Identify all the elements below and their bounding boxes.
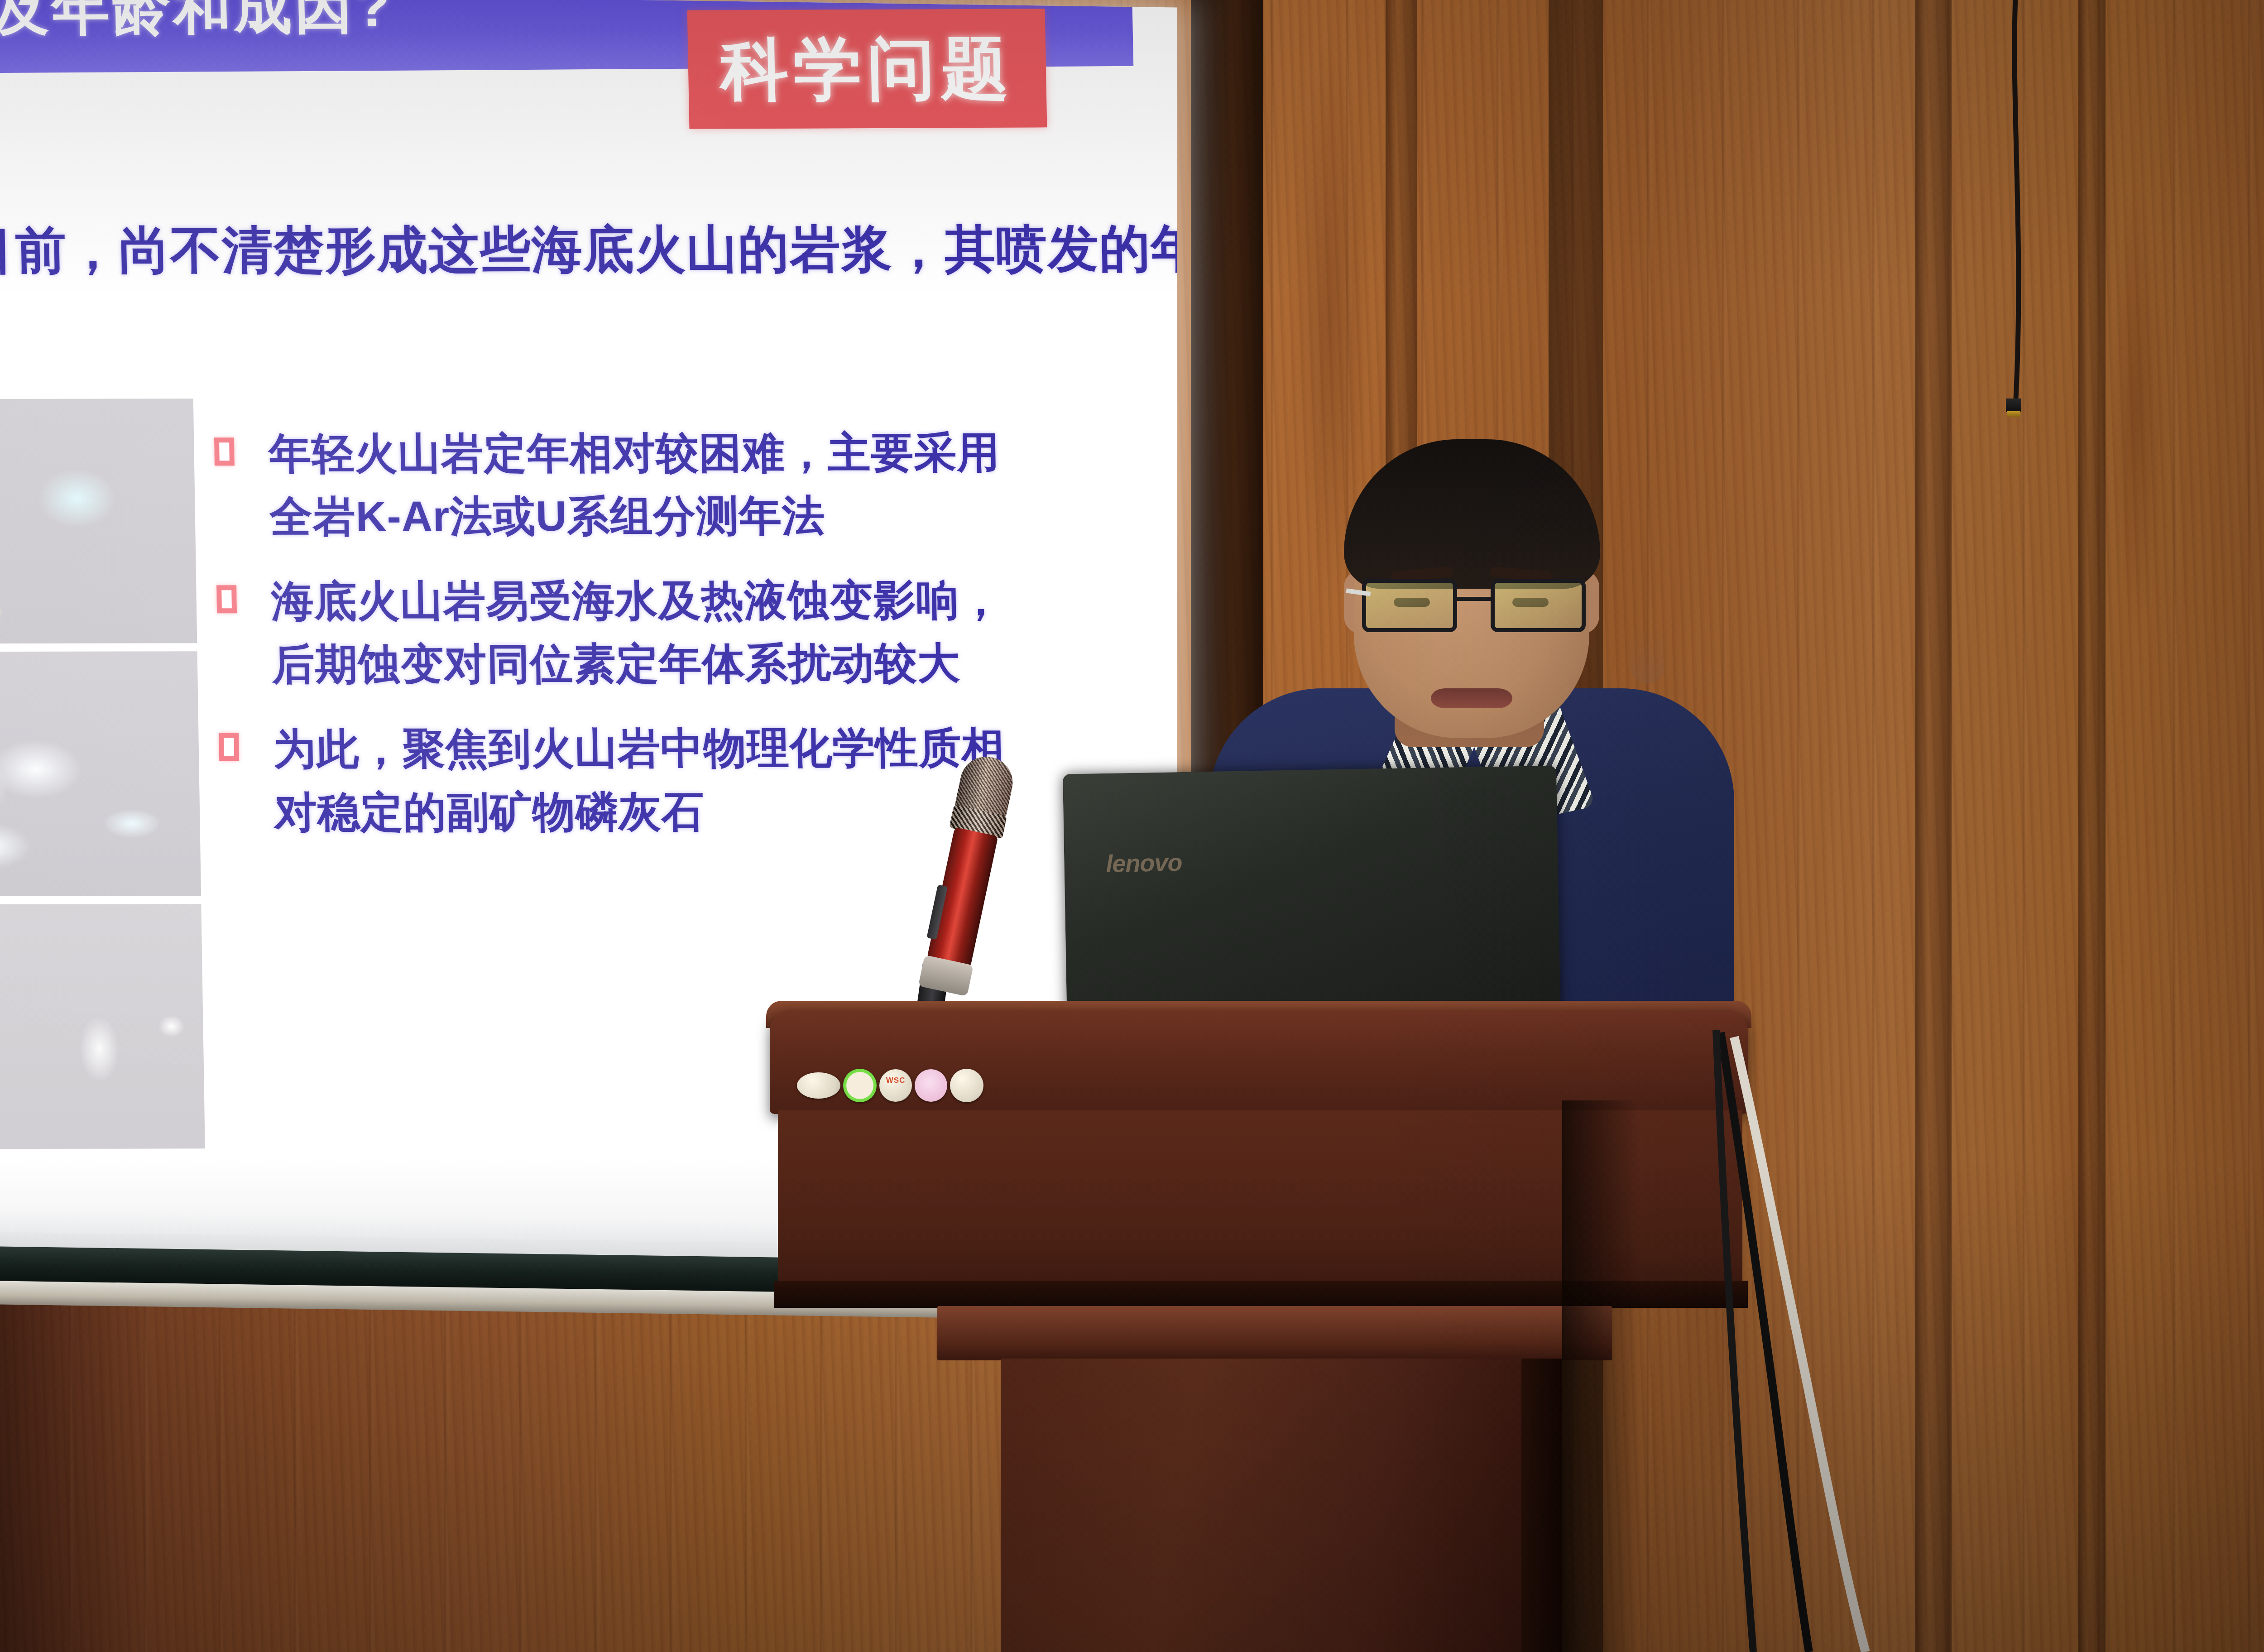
podium-badge-row: WSC: [797, 1069, 983, 1102]
bullet-line-1: 为此，聚焦到火山岩中物理化学性质相: [273, 724, 1005, 773]
laptop[interactable]: lenovo: [1063, 766, 1561, 1037]
thin-section-photo-3: [0, 904, 205, 1149]
bullet-square-icon: [219, 733, 239, 761]
bullet-text: 海底火山岩易受海水及热液蚀变影响， 后期蚀变对同位素定年体系扰动较大: [271, 568, 1004, 696]
speaker-mouth: [1431, 688, 1512, 708]
eyeglasses: [1358, 579, 1589, 638]
slide-lead-paragraph: 目前，尚不清楚形成这些海底火山的岩浆，其喷发的年: [0, 215, 1096, 285]
podium-badge: [915, 1069, 947, 1102]
bullet-line-2: 对稳定的副矿物磷灰石: [274, 779, 1006, 844]
laptop-brand-logo: lenovo: [1106, 848, 1182, 878]
bullet-line-2: 后期蚀变对同位素定年体系扰动较大: [272, 632, 1004, 696]
slide-bullet-item: 海底火山岩易受海水及热液蚀变影响， 后期蚀变对同位素定年体系扰动较大: [216, 568, 1101, 696]
presentation-room-photo: 及年龄和成因? 科学问题 目前，尚不清楚形成这些海底火山的岩浆，其喷发的年 年轻…: [0, 0, 2264, 1652]
bullet-text: 年轻火山岩定年相对较困难，主要采用 全岩K-Ar法或U系组分测年法: [268, 421, 1001, 548]
cable-connector: [2006, 399, 2021, 412]
podium-badge-label: WSC: [879, 1069, 912, 1084]
bullet-text: 为此，聚焦到火山岩中物理化学性质相 对稳定的副矿物磷灰石: [273, 716, 1006, 844]
eyeglass-lens-left: [1362, 579, 1457, 632]
bullet-square-icon: [216, 585, 237, 613]
slide-bullet-item: 年轻火山岩定年相对较困难，主要采用 全岩K-Ar法或U系组分测年法: [214, 421, 1098, 548]
podium-badge-wsc: WSC: [879, 1069, 912, 1102]
wall-pilaster: [2078, 0, 2106, 1652]
speaker-nose: [1630, 629, 1664, 684]
thin-section-photo-1: [0, 399, 197, 644]
bullet-line-1: 年轻火山岩定年相对较困难，主要采用: [269, 428, 1000, 477]
bullet-line-2: 全岩K-Ar法或U系组分测年法: [269, 484, 1002, 548]
wood-grain-knots-right: [1947, 0, 2264, 1652]
bullet-square-icon: [214, 437, 235, 466]
thin-section-photo-2: [0, 651, 201, 896]
podium-badge: [843, 1069, 877, 1102]
podium-column: [1001, 1359, 1526, 1652]
eyeglass-bridge: [1457, 597, 1491, 601]
slide-section-banner-label: 科学问题: [720, 34, 1015, 104]
slide-photo-column: [0, 399, 205, 1157]
podium-shelf: [937, 1306, 1612, 1360]
podium-cast-shadow: [1562, 1100, 1639, 1652]
bullet-line-1: 海底火山岩易受海水及热液蚀变影响，: [271, 576, 1002, 625]
eyeglass-lens-right: [1491, 579, 1586, 632]
podium-badge: [950, 1069, 983, 1102]
podium-column-edge: [1521, 1359, 1562, 1652]
slide-section-banner: 科学问题: [687, 9, 1047, 129]
wall-pilaster: [1915, 0, 1952, 1652]
podium-badge: [797, 1072, 840, 1099]
slide-title-text: 及年龄和成因?: [0, 0, 671, 38]
speaker-hair: [1344, 439, 1600, 589]
